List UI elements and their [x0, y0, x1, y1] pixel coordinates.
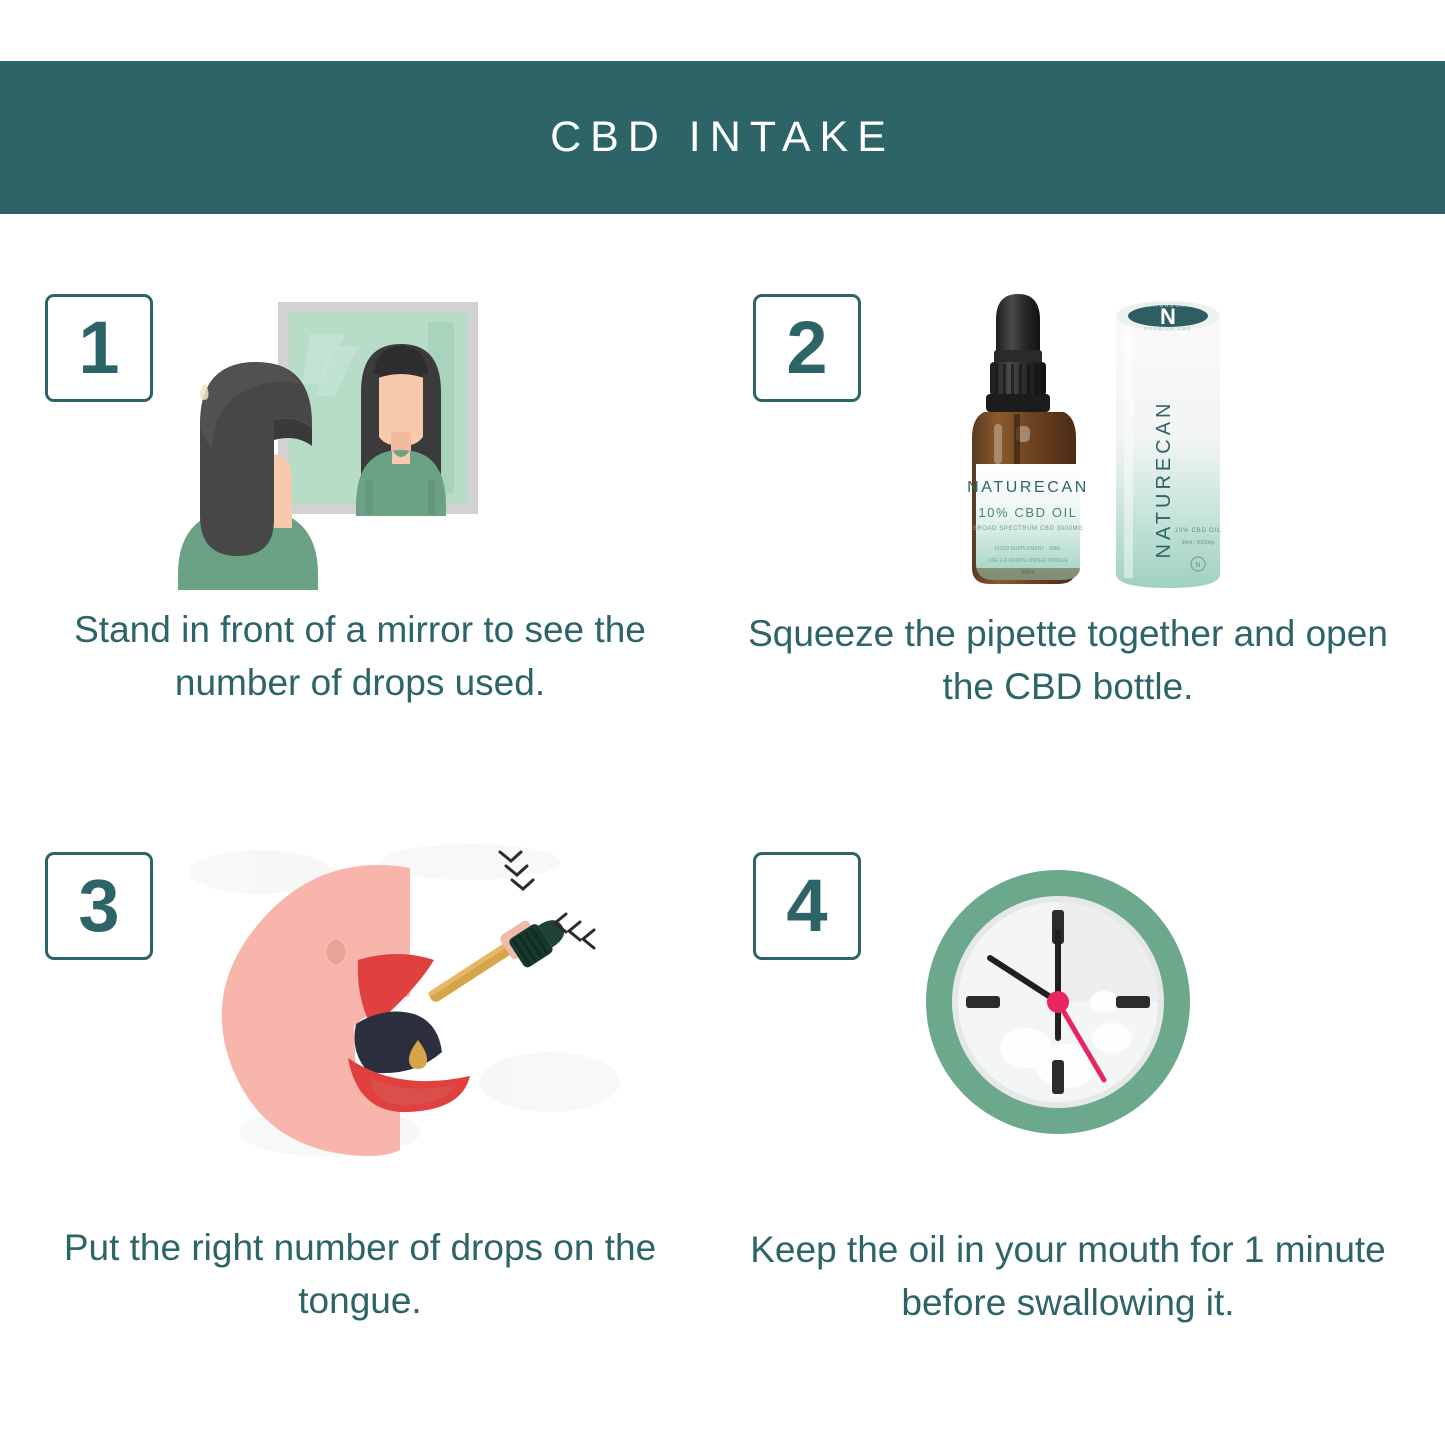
- step-2-caption: Squeeze the pipette together and open th…: [738, 608, 1398, 713]
- step-card-1: 1: [10, 274, 710, 709]
- step-number-label: 4: [786, 869, 827, 943]
- steps-grid: 1: [0, 214, 1445, 1445]
- step-number-box-2: 2: [753, 294, 861, 402]
- mirror-illustration-icon: [170, 274, 640, 604]
- page-title: CBD INTAKE: [550, 113, 895, 162]
- clock-illustration-icon: [908, 852, 1208, 1152]
- header-banner: CBD INTAKE: [0, 61, 1445, 214]
- product-tube: N NATURECAN PREMIUM CBD NATURECAN 10% CB…: [1116, 301, 1221, 588]
- step-number-label: 1: [78, 311, 119, 385]
- svg-text:BROAD SPECTRUM CBD 3000MG: BROAD SPECTRUM CBD 3000MG: [973, 526, 1084, 532]
- step-4-illustration: [878, 832, 1348, 1162]
- step-number-label: 2: [786, 311, 827, 385]
- step-card-2: 2: [718, 274, 1418, 713]
- step-number-label: 3: [78, 869, 119, 943]
- step-4-caption: Keep the oil in your mouth for 1 minute …: [738, 1224, 1398, 1329]
- svg-text:10% CBD OIL: 10% CBD OIL: [1175, 528, 1221, 534]
- cbd-bottle-illustration-icon: N NATURECAN PREMIUM CBD NATURECAN 10% CB…: [898, 274, 1328, 604]
- step-1-illustration: [170, 274, 640, 604]
- step-1-visual-row: 1: [10, 274, 710, 604]
- step-2-illustration: N NATURECAN PREMIUM CBD NATURECAN 10% CB…: [878, 274, 1348, 604]
- step-4-visual-row: 4: [718, 832, 1418, 1162]
- svg-text:USE 2-3 DROPS UNDER TONGUE: USE 2-3 DROPS UNDER TONGUE: [988, 558, 1068, 564]
- svg-text:NATURECAN: NATURECAN: [967, 479, 1089, 496]
- step-card-4: 4: [718, 832, 1418, 1329]
- step-3-visual-row: 3: [10, 832, 710, 1162]
- step-number-box-3: 3: [45, 852, 153, 960]
- cbd-oil-bottle: NATURECAN 10% CBD OIL BROAD SPECTRUM CBD…: [967, 294, 1089, 584]
- step-card-3: 3: [10, 832, 710, 1327]
- step-2-visual-row: 2: [718, 274, 1418, 604]
- svg-text:NATURECAN: NATURECAN: [1153, 400, 1175, 559]
- svg-text:N: N: [1195, 562, 1200, 569]
- step-3-illustration: [170, 832, 640, 1162]
- svg-text:NATURECAN: NATURECAN: [1145, 303, 1190, 309]
- step-1-caption: Stand in front of a mirror to see the nu…: [30, 604, 690, 709]
- step-3-caption: Put the right number of drops on the ton…: [30, 1222, 690, 1327]
- mouth-dropper-illustration-icon: [170, 832, 640, 1162]
- step-number-box-4: 4: [753, 852, 861, 960]
- svg-text:PREMIUM CBD: PREMIUM CBD: [1144, 326, 1191, 331]
- step-number-box-1: 1: [45, 294, 153, 402]
- svg-text:FOOD SUPPLEMENT · 30ML: FOOD SUPPLEMENT · 30ML: [995, 546, 1062, 552]
- svg-text:10% CBD OIL: 10% CBD OIL: [978, 505, 1077, 520]
- svg-text:30ml / 3000mg: 30ml / 3000mg: [1181, 540, 1214, 546]
